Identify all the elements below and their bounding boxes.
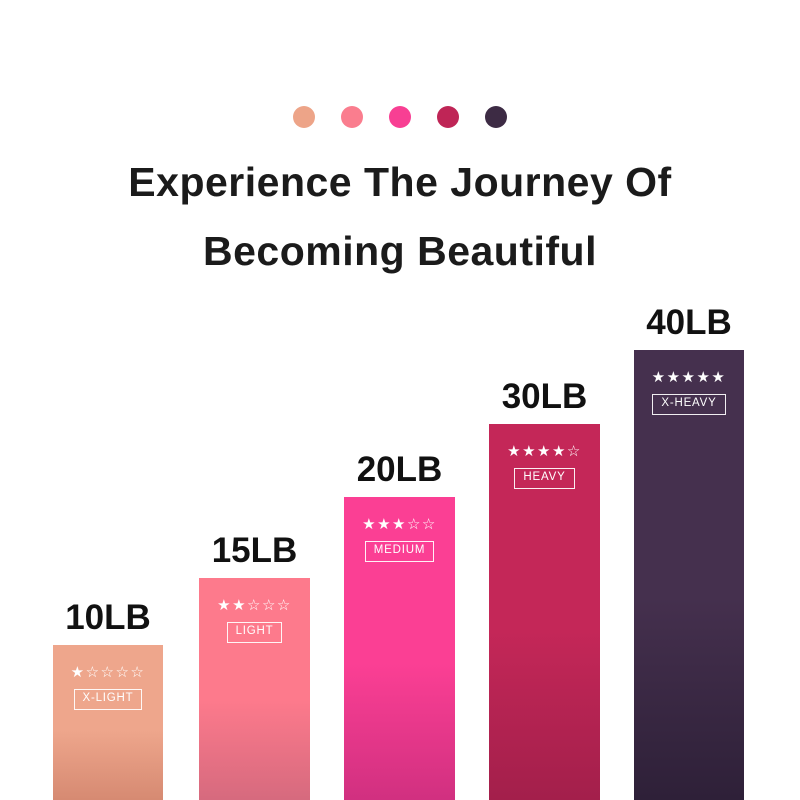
star-empty-icon: ☆ [115, 665, 130, 680]
star-empty-icon: ☆ [407, 517, 422, 532]
resistance-level-badge: HEAVY [514, 468, 574, 489]
star-empty-icon: ☆ [277, 598, 292, 613]
star-filled-icon: ★ [217, 598, 232, 613]
star-filled-icon: ★ [507, 444, 522, 459]
bar-weight-label: 30LB [489, 377, 600, 417]
bar-fill: ★★☆☆☆LIGHT [199, 578, 310, 800]
bar-column-10lb[interactable]: 10LB★☆☆☆☆X-LIGHT [53, 645, 163, 800]
resistance-level-badge: LIGHT [227, 622, 283, 643]
star-filled-icon: ★ [537, 444, 552, 459]
resistance-band-bar-chart: 10LB★☆☆☆☆X-LIGHT15LB★★☆☆☆LIGHT20LB★★★☆☆M… [0, 0, 800, 800]
star-filled-icon: ★ [652, 370, 667, 385]
bar-column-20lb[interactable]: 20LB★★★☆☆MEDIUM [344, 497, 455, 800]
bar-weight-label: 40LB [634, 303, 744, 343]
bar-column-40lb[interactable]: 40LB★★★★★X-HEAVY [634, 350, 744, 800]
star-filled-icon: ★ [711, 370, 726, 385]
star-empty-icon: ☆ [262, 598, 277, 613]
rating-stars-icon: ★★☆☆☆ [217, 598, 292, 613]
star-empty-icon: ☆ [567, 444, 582, 459]
resistance-level-badge: MEDIUM [365, 541, 434, 562]
star-filled-icon: ★ [696, 370, 711, 385]
star-filled-icon: ★ [682, 370, 697, 385]
star-filled-icon: ★ [522, 444, 537, 459]
resistance-level-badge: X-HEAVY [652, 394, 725, 415]
star-filled-icon: ★ [377, 517, 392, 532]
resistance-level-badge: X-LIGHT [74, 689, 143, 710]
product-infographic: Experience The Journey Of Becoming Beaut… [0, 0, 800, 800]
bar-weight-label: 20LB [344, 450, 455, 490]
star-filled-icon: ★ [362, 517, 377, 532]
bar-column-15lb[interactable]: 15LB★★☆☆☆LIGHT [199, 578, 310, 800]
bar-weight-label: 10LB [53, 598, 163, 638]
bar-fill: ★☆☆☆☆X-LIGHT [53, 645, 163, 800]
star-filled-icon: ★ [71, 665, 86, 680]
star-filled-icon: ★ [232, 598, 247, 613]
star-empty-icon: ☆ [130, 665, 145, 680]
rating-stars-icon: ★★★★☆ [507, 444, 582, 459]
bar-weight-label: 15LB [199, 531, 310, 571]
star-filled-icon: ★ [667, 370, 682, 385]
rating-stars-icon: ★☆☆☆☆ [71, 665, 146, 680]
rating-stars-icon: ★★★☆☆ [362, 517, 437, 532]
bar-column-30lb[interactable]: 30LB★★★★☆HEAVY [489, 424, 600, 800]
star-filled-icon: ★ [552, 444, 567, 459]
rating-stars-icon: ★★★★★ [652, 370, 727, 385]
bar-fill: ★★★★★X-HEAVY [634, 350, 744, 800]
bar-fill: ★★★☆☆MEDIUM [344, 497, 455, 800]
star-filled-icon: ★ [392, 517, 407, 532]
star-empty-icon: ☆ [101, 665, 116, 680]
star-empty-icon: ☆ [86, 665, 101, 680]
star-empty-icon: ☆ [422, 517, 437, 532]
bar-fill: ★★★★☆HEAVY [489, 424, 600, 800]
star-empty-icon: ☆ [247, 598, 262, 613]
